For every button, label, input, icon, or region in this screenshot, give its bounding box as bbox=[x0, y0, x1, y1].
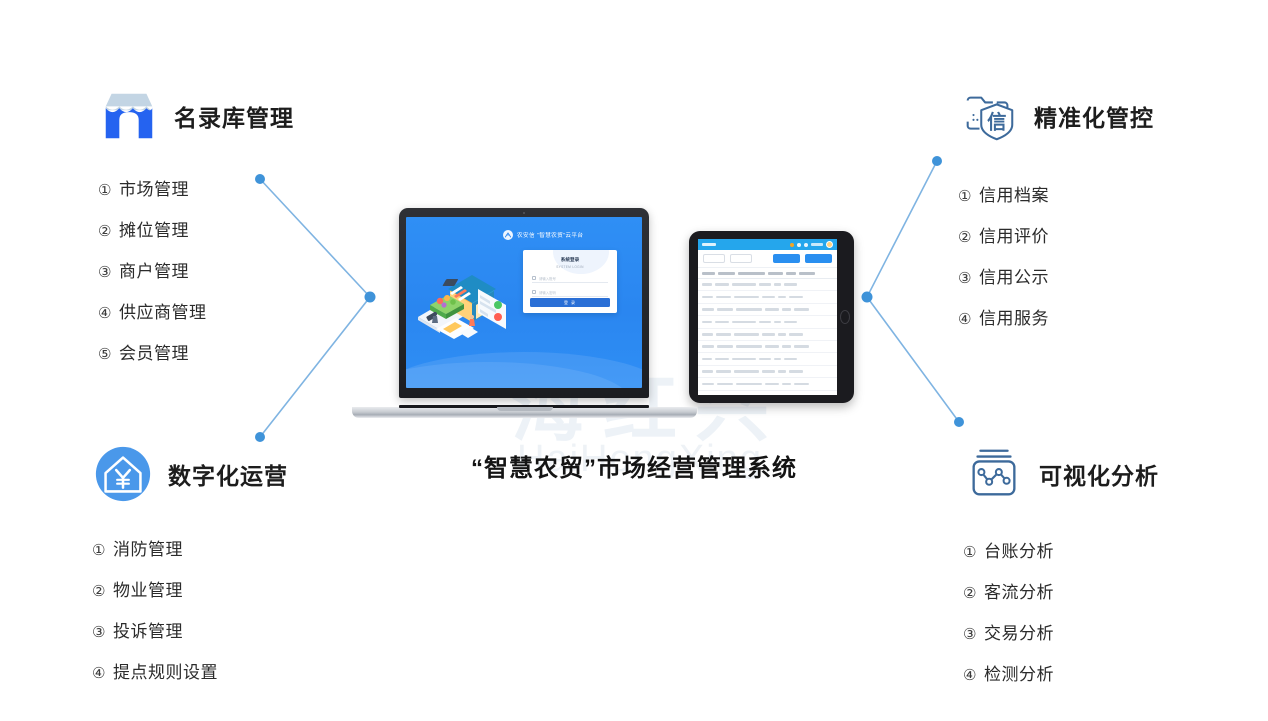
list-item-number: ③ bbox=[92, 623, 106, 641]
login-subtitle: SYSTEM LOGIN bbox=[532, 265, 608, 269]
table-cell bbox=[702, 308, 714, 311]
list-item[interactable]: ② 物业管理 bbox=[92, 576, 288, 601]
table-cell bbox=[717, 308, 733, 311]
password-field[interactable]: 请输入密码 bbox=[532, 289, 608, 297]
login-card: 系统登录 SYSTEM LOGIN 请输入账号 请输入密码 bbox=[523, 250, 617, 313]
tablet-home-button[interactable] bbox=[840, 310, 850, 324]
list-item-label: 摊位管理 bbox=[119, 216, 189, 241]
username-field[interactable]: 请输入账号 bbox=[532, 275, 608, 283]
tablet-data-table bbox=[698, 268, 837, 395]
quadrant-list: ① 台账分析 ② 客流分析 ③ 交易分析 ④ 检测分析 bbox=[963, 537, 1159, 685]
table-row[interactable] bbox=[698, 366, 837, 378]
table-cell bbox=[789, 333, 803, 336]
list-item-label: 消防管理 bbox=[113, 535, 183, 560]
table-cell bbox=[765, 308, 779, 311]
table-cell bbox=[734, 296, 759, 299]
list-item-label: 信用服务 bbox=[979, 304, 1049, 329]
list-item-number: ② bbox=[958, 228, 972, 246]
table-row[interactable] bbox=[698, 316, 837, 328]
table-cell bbox=[717, 345, 733, 348]
table-row[interactable] bbox=[698, 329, 837, 341]
list-item-number: ② bbox=[98, 222, 112, 240]
column-header bbox=[786, 272, 796, 275]
list-item-label: 信用评价 bbox=[979, 222, 1049, 247]
list-item-number: ④ bbox=[963, 666, 977, 684]
table-cell bbox=[732, 283, 756, 286]
list-item-number: ④ bbox=[958, 310, 972, 328]
table-row[interactable] bbox=[698, 391, 837, 395]
list-item[interactable]: ③ 投诉管理 bbox=[92, 617, 288, 642]
table-row[interactable] bbox=[698, 341, 837, 353]
user-icon bbox=[532, 276, 536, 280]
table-cell bbox=[716, 333, 731, 336]
column-header bbox=[702, 272, 715, 275]
table-row[interactable] bbox=[698, 291, 837, 303]
settings-icon[interactable] bbox=[804, 243, 808, 247]
list-item-label: 信用公示 bbox=[979, 263, 1049, 288]
table-cell bbox=[702, 321, 712, 324]
list-item-label: 交易分析 bbox=[984, 619, 1054, 644]
table-cell bbox=[782, 383, 791, 386]
export-button[interactable] bbox=[773, 254, 800, 263]
table-cell bbox=[759, 321, 771, 324]
table-cell bbox=[782, 345, 791, 348]
list-item-number: ④ bbox=[92, 664, 106, 682]
quadrant-list: ① 消防管理 ② 物业管理 ③ 投诉管理 ④ 提点规则设置 bbox=[92, 535, 288, 683]
table-cell bbox=[732, 358, 756, 361]
tablet-topbar-icons bbox=[790, 241, 833, 248]
brand-text: 农安信 “智慧农贸”云平台 bbox=[517, 231, 583, 239]
storefront-icon bbox=[98, 85, 160, 147]
list-item[interactable]: ② 摊位管理 bbox=[98, 216, 294, 241]
table-cell bbox=[715, 321, 729, 324]
list-item[interactable]: ② 客流分析 bbox=[963, 578, 1159, 603]
list-item[interactable]: ⑤ 会员管理 bbox=[98, 339, 294, 364]
lock-icon bbox=[532, 290, 536, 294]
table-cell bbox=[702, 345, 714, 348]
table-row[interactable] bbox=[698, 353, 837, 365]
table-cell bbox=[784, 283, 797, 286]
username-placeholder: 请输入账号 bbox=[539, 276, 556, 281]
table-cell bbox=[782, 308, 791, 311]
table-cell bbox=[736, 345, 762, 348]
list-item-label: 商户管理 bbox=[119, 257, 189, 282]
quadrant-top-left: 名录库管理 ① 市场管理 ② 摊位管理 ③ 商户管理 ④ 供应商管理 ⑤ 会员管… bbox=[98, 85, 294, 380]
laptop-base bbox=[352, 407, 697, 418]
column-header bbox=[799, 272, 815, 275]
filter-button-2[interactable] bbox=[730, 254, 752, 263]
table-cell bbox=[762, 296, 775, 299]
table-cell bbox=[734, 370, 759, 373]
table-cell bbox=[762, 333, 775, 336]
list-item-label: 检测分析 bbox=[984, 660, 1054, 685]
table-cell bbox=[762, 370, 775, 373]
table-cell bbox=[715, 358, 729, 361]
login-button-label: 登 录 bbox=[564, 300, 576, 306]
table-cell bbox=[736, 383, 762, 386]
table-cell bbox=[794, 383, 809, 386]
table-cell bbox=[778, 296, 786, 299]
table-cell bbox=[702, 383, 714, 386]
platform-brand: 农安信 “智慧农贸”云平台 bbox=[503, 230, 583, 240]
login-button[interactable]: 登 录 bbox=[530, 298, 610, 307]
table-cell bbox=[716, 296, 731, 299]
table-cell bbox=[778, 333, 786, 336]
notification-icon[interactable] bbox=[790, 243, 794, 247]
table-cell bbox=[794, 345, 809, 348]
list-item-number: ① bbox=[98, 181, 112, 199]
table-cell bbox=[774, 358, 781, 361]
isometric-market-illustration bbox=[416, 245, 524, 343]
tablet-topbar bbox=[698, 239, 837, 250]
tablet-screen bbox=[698, 239, 837, 395]
list-item-label: 信用档案 bbox=[979, 181, 1049, 206]
list-item-number: ③ bbox=[98, 263, 112, 281]
tablet-device bbox=[689, 231, 854, 403]
quadrant-header: 信 精准化管控 bbox=[958, 85, 1154, 147]
table-cell bbox=[778, 370, 786, 373]
list-item[interactable]: ④ 供应商管理 bbox=[98, 298, 294, 323]
page-title: “智慧农贸”市场经营管理系统 bbox=[0, 448, 1268, 483]
laptop-screen: 农安信 “智慧农贸”云平台 系统登录 SYSTEM LOGIN 请输入账号 bbox=[406, 217, 642, 388]
table-cell bbox=[784, 358, 797, 361]
quadrant-title: 名录库管理 bbox=[174, 99, 294, 133]
tablet-toolbar bbox=[698, 250, 837, 268]
device-mockup-group: 农安信 “智慧农贸”云平台 系统登录 SYSTEM LOGIN 请输入账号 bbox=[352, 200, 872, 425]
list-item-label: 投诉管理 bbox=[113, 617, 183, 642]
laptop-lid: 农安信 “智慧农贸”云平台 系统登录 SYSTEM LOGIN 请输入账号 bbox=[399, 208, 649, 398]
table-cell bbox=[715, 283, 729, 286]
list-item-number: ⑤ bbox=[98, 345, 112, 363]
quadrant-list: ① 市场管理 ② 摊位管理 ③ 商户管理 ④ 供应商管理 ⑤ 会员管理 bbox=[98, 175, 294, 364]
table-cell bbox=[702, 358, 712, 361]
table-row[interactable] bbox=[698, 279, 837, 291]
list-item-label: 会员管理 bbox=[119, 339, 189, 364]
quadrant-top-right: 信 精准化管控 ① 信用档案 ② 信用评价 ③ 信用公示 ④ 信用服务 bbox=[958, 85, 1154, 345]
column-header bbox=[718, 272, 735, 275]
password-placeholder: 请输入密码 bbox=[539, 290, 556, 295]
table-cell bbox=[794, 308, 809, 311]
table-body bbox=[698, 279, 837, 395]
list-item-number: ① bbox=[92, 541, 106, 559]
list-item-label: 客流分析 bbox=[984, 578, 1054, 603]
add-record-button[interactable] bbox=[805, 254, 832, 263]
quadrant-header: 名录库管理 bbox=[98, 85, 294, 147]
table-cell bbox=[765, 345, 779, 348]
list-item[interactable]: ① 市场管理 bbox=[98, 175, 294, 200]
avatar[interactable] bbox=[826, 241, 833, 248]
list-item[interactable]: ③ 交易分析 bbox=[963, 619, 1159, 644]
list-item[interactable]: ③ 信用公示 bbox=[958, 263, 1154, 288]
table-cell bbox=[717, 383, 733, 386]
table-cell bbox=[702, 370, 713, 373]
list-item[interactable]: ① 消防管理 bbox=[92, 535, 288, 560]
list-item[interactable]: ② 信用评价 bbox=[958, 222, 1154, 247]
list-item-number: ① bbox=[958, 187, 972, 205]
webcam-icon bbox=[523, 212, 525, 214]
table-cell bbox=[789, 296, 803, 299]
laptop-device: 农安信 “智慧农贸”云平台 系统登录 SYSTEM LOGIN 请输入账号 bbox=[352, 208, 697, 418]
list-item-label: 物业管理 bbox=[113, 576, 183, 601]
list-item[interactable]: ④ 检测分析 bbox=[963, 660, 1159, 685]
quadrant-title: 精准化管控 bbox=[1034, 99, 1154, 133]
column-header bbox=[738, 272, 765, 275]
list-item-number: ① bbox=[963, 543, 977, 561]
message-icon[interactable] bbox=[797, 243, 801, 247]
table-header-row bbox=[698, 268, 837, 279]
table-cell bbox=[734, 333, 759, 336]
tablet-logo bbox=[702, 243, 716, 246]
table-cell bbox=[774, 283, 781, 286]
login-title: 系统登录 bbox=[532, 257, 608, 263]
table-cell bbox=[774, 321, 781, 324]
list-item-number: ② bbox=[92, 582, 106, 600]
list-item-label: 提点规则设置 bbox=[113, 658, 218, 683]
table-cell bbox=[732, 321, 756, 324]
quadrant-list: ① 信用档案 ② 信用评价 ③ 信用公示 ④ 信用服务 bbox=[958, 181, 1154, 329]
background-wave-1 bbox=[406, 352, 642, 388]
list-item-label: 市场管理 bbox=[119, 175, 189, 200]
list-item[interactable]: ③ 商户管理 bbox=[98, 257, 294, 282]
list-item[interactable]: ① 信用档案 bbox=[958, 181, 1154, 206]
table-cell bbox=[716, 370, 731, 373]
list-item[interactable]: ① 台账分析 bbox=[963, 537, 1159, 562]
list-item-number: ③ bbox=[963, 625, 977, 643]
table-cell bbox=[702, 296, 713, 299]
table-cell bbox=[789, 370, 803, 373]
list-item[interactable]: ④ 信用服务 bbox=[958, 304, 1154, 329]
list-item[interactable]: ④ 提点规则设置 bbox=[92, 658, 288, 683]
table-cell bbox=[759, 358, 771, 361]
list-item-label: 供应商管理 bbox=[119, 298, 207, 323]
list-item-label: 台账分析 bbox=[984, 537, 1054, 562]
table-row[interactable] bbox=[698, 304, 837, 316]
table-cell bbox=[765, 383, 779, 386]
list-item-number: ③ bbox=[958, 269, 972, 287]
infographic-canvas: 海红兴 HaiHongXing 名录库管理 bbox=[0, 0, 1268, 721]
table-cell bbox=[702, 283, 712, 286]
list-item-number: ④ bbox=[98, 304, 112, 322]
table-row[interactable] bbox=[698, 378, 837, 390]
list-item-number: ② bbox=[963, 584, 977, 602]
filter-button-1[interactable] bbox=[703, 254, 725, 263]
user-name-label bbox=[811, 243, 823, 246]
table-cell bbox=[702, 333, 713, 336]
column-header bbox=[768, 272, 783, 275]
laptop-base-notch bbox=[497, 407, 553, 411]
table-cell bbox=[784, 321, 797, 324]
shield-glyph: 信 bbox=[987, 111, 1006, 134]
table-cell bbox=[736, 308, 762, 311]
credit-folder-shield-icon: 信 bbox=[958, 85, 1020, 147]
table-cell bbox=[759, 283, 771, 286]
brand-logo-icon bbox=[503, 230, 513, 240]
